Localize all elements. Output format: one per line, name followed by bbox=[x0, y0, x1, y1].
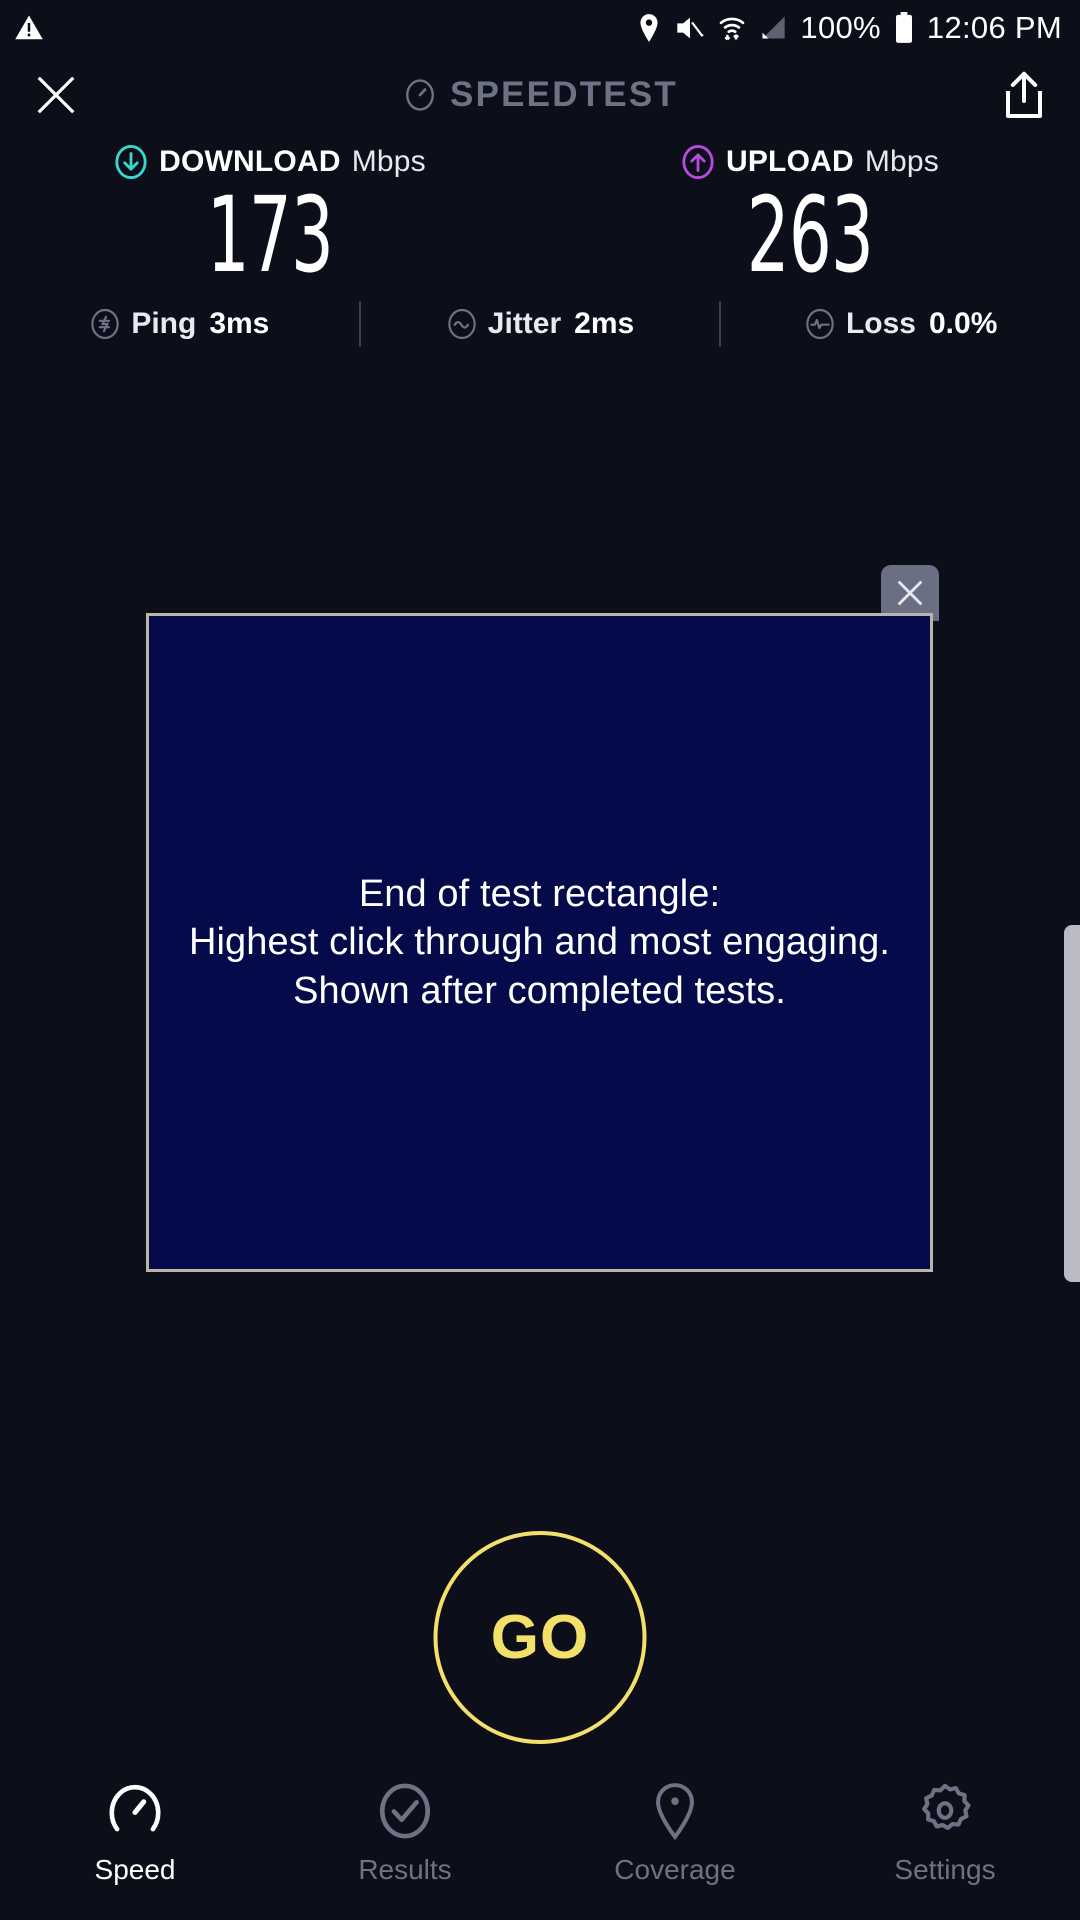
nav-label-speed: Speed bbox=[95, 1854, 176, 1886]
nav-item-speed[interactable]: Speed bbox=[0, 1782, 270, 1886]
nav-label-settings: Settings bbox=[894, 1854, 995, 1886]
upload-unit: Mbps bbox=[865, 145, 939, 179]
metrics-row: Ping 3ms Jitter 2ms Loss 0.0% bbox=[0, 296, 1080, 352]
sound-muted-icon bbox=[675, 14, 705, 42]
metric-jitter-value: 2ms bbox=[574, 307, 634, 341]
go-button-label: GO bbox=[491, 1602, 589, 1673]
jitter-circle-icon bbox=[446, 308, 478, 340]
upload-value: 263 bbox=[616, 186, 1005, 286]
nav-label-results: Results bbox=[358, 1854, 451, 1886]
brand-title: SPEEDTEST bbox=[450, 75, 678, 115]
status-bar: 100% 12:06 PM bbox=[0, 0, 1080, 56]
metric-ping-label: Ping bbox=[131, 307, 196, 341]
metric-loss-label: Loss bbox=[846, 307, 916, 341]
bottom-navigation: Speed Results Coverage Settings bbox=[0, 1768, 1080, 1920]
status-bar-clock: 12:06 PM bbox=[927, 10, 1062, 46]
speedometer-icon bbox=[106, 1782, 164, 1840]
metric-loss-value: 0.0% bbox=[929, 307, 997, 341]
close-button[interactable] bbox=[28, 67, 84, 123]
map-pin-icon bbox=[646, 1782, 704, 1840]
scrollbar[interactable] bbox=[1064, 925, 1080, 1282]
results-values-row: 173 263 bbox=[0, 186, 1080, 286]
metric-jitter: Jitter 2ms bbox=[361, 307, 720, 341]
arrow-down-circle-icon bbox=[114, 145, 148, 179]
check-circle-icon bbox=[376, 1782, 434, 1840]
ad-line-2: Highest click through and most engaging. bbox=[189, 918, 890, 967]
download-unit: Mbps bbox=[352, 145, 426, 179]
metric-ping-value: 3ms bbox=[209, 307, 269, 341]
warning-triangle-icon bbox=[14, 13, 44, 43]
app-bar: SPEEDTEST bbox=[0, 56, 1080, 134]
ad-line-3: Shown after completed tests. bbox=[189, 967, 890, 1016]
nav-item-settings[interactable]: Settings bbox=[810, 1782, 1080, 1886]
share-button[interactable] bbox=[996, 67, 1052, 123]
arrow-up-circle-icon bbox=[681, 145, 715, 179]
brand: SPEEDTEST bbox=[402, 75, 678, 115]
speedometer-icon bbox=[402, 77, 438, 113]
nav-item-results[interactable]: Results bbox=[270, 1782, 540, 1886]
battery-full-icon bbox=[894, 12, 914, 44]
nav-item-coverage[interactable]: Coverage bbox=[540, 1782, 810, 1886]
metric-jitter-label: Jitter bbox=[488, 307, 561, 341]
gear-icon bbox=[916, 1782, 974, 1840]
metric-loss: Loss 0.0% bbox=[721, 307, 1080, 341]
status-bar-left bbox=[14, 13, 44, 43]
results-header-row: DOWNLOAD Mbps UPLOAD Mbps bbox=[0, 138, 1080, 186]
go-button[interactable]: GO bbox=[434, 1531, 647, 1744]
status-bar-right: 100% 12:06 PM bbox=[636, 10, 1062, 46]
wifi-icon bbox=[718, 13, 746, 43]
metric-ping: Ping 3ms bbox=[0, 307, 359, 341]
battery-percent: 100% bbox=[800, 10, 881, 46]
advertisement-banner[interactable]: End of test rectangle: Highest click thr… bbox=[146, 613, 933, 1272]
ad-text: End of test rectangle: Highest click thr… bbox=[189, 870, 890, 1016]
location-pin-icon bbox=[636, 13, 662, 43]
ad-line-1: End of test rectangle: bbox=[189, 870, 890, 919]
loss-circle-icon bbox=[804, 308, 836, 340]
cell-signal-icon bbox=[759, 15, 787, 41]
ping-circle-icon bbox=[89, 308, 121, 340]
download-value: 173 bbox=[76, 186, 465, 286]
nav-label-coverage: Coverage bbox=[614, 1854, 735, 1886]
close-icon bbox=[893, 576, 927, 610]
